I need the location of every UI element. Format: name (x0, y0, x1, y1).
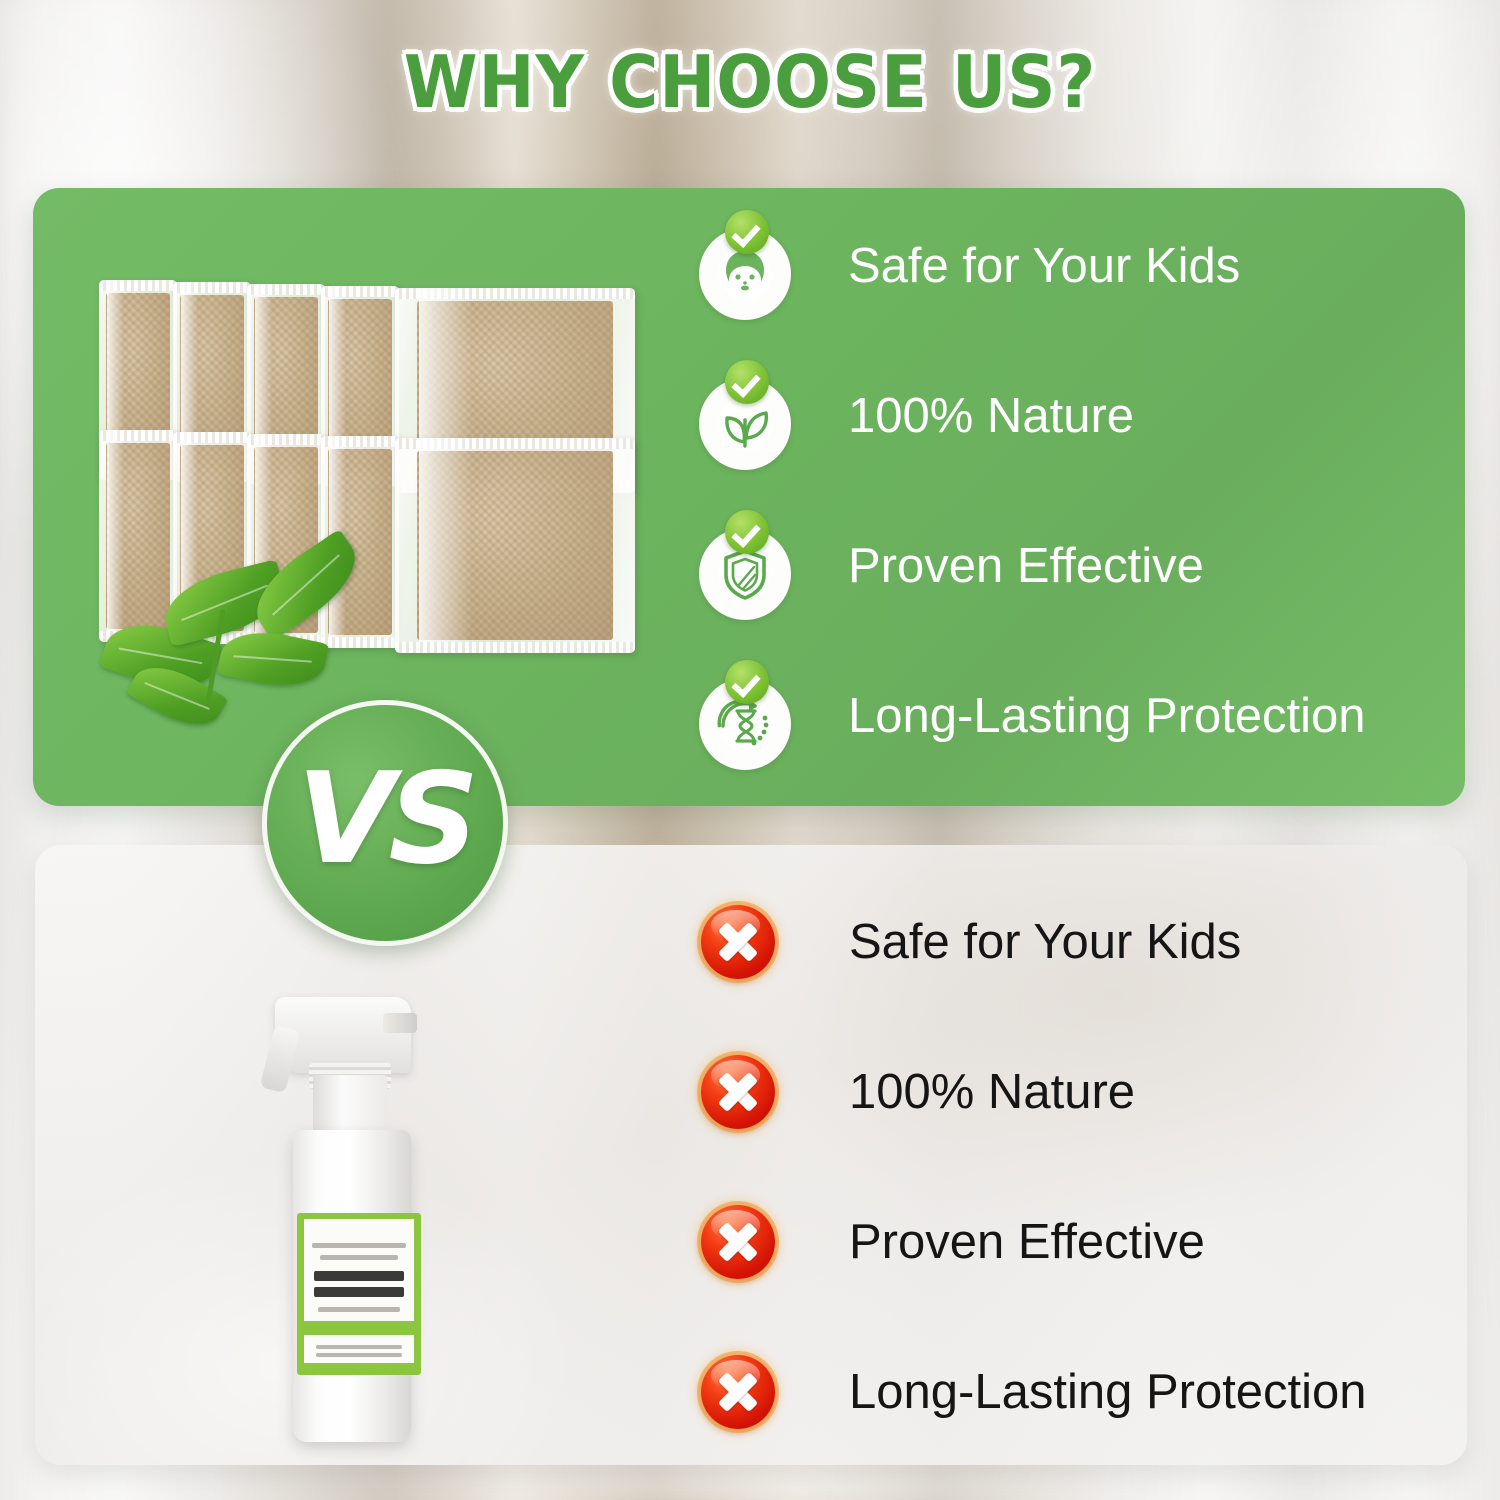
infographic-stage: WHY CHOOSE US? (0, 0, 1500, 1500)
feature-label: 100% Nature (849, 1068, 1135, 1117)
feature-row-safe-for-kids: Safe for Your Kids (699, 220, 1240, 312)
check-badge-icon (725, 360, 769, 404)
mint-leaves-decoration (95, 555, 395, 730)
mint-leaf (217, 623, 330, 695)
cross-icon (701, 1055, 775, 1129)
feature-row-proven-effective-bad: Proven Effective (701, 1205, 1205, 1279)
feature-row-100-nature: 100% Nature (699, 370, 1134, 462)
feature-label: 100% Nature (848, 392, 1134, 441)
bottle-label (297, 1213, 421, 1375)
bad-product-panel: Safe for Your Kids 100% Nature Proven Ef… (35, 845, 1467, 1465)
hourglass-refresh-icon (699, 670, 791, 762)
check-badge-icon (725, 510, 769, 554)
feature-row-long-lasting-bad: Long-Lasting Protection (701, 1355, 1367, 1429)
feature-label: Proven Effective (849, 1218, 1205, 1267)
pouch-gloss (419, 438, 472, 653)
shield-icon (699, 520, 791, 612)
feature-label: Safe for Your Kids (849, 918, 1241, 967)
child-face-icon (699, 220, 791, 312)
cross-icon (701, 1205, 775, 1279)
feature-label: Safe for Your Kids (848, 242, 1240, 291)
feature-label: Proven Effective (848, 542, 1204, 591)
feature-row-100-nature-bad: 100% Nature (701, 1055, 1135, 1129)
sachet-pouch-front (395, 438, 635, 653)
vs-badge: VS (262, 700, 508, 946)
spray-bottle-photo (255, 955, 445, 1445)
bottle-neck (313, 1075, 387, 1137)
cross-icon (701, 905, 775, 979)
vs-label: VS (297, 756, 473, 882)
check-badge-icon (725, 210, 769, 254)
check-badge-icon (725, 660, 769, 704)
leaf-icon (699, 370, 791, 462)
feature-label: Long-Lasting Protection (849, 1368, 1367, 1417)
page-title: WHY CHOOSE US? (53, 40, 1448, 124)
feature-row-safe-for-kids-bad: Safe for Your Kids (701, 905, 1241, 979)
pouch-seal-bottom (395, 642, 635, 653)
feature-row-proven-effective: Proven Effective (699, 520, 1204, 612)
feature-label: Long-Lasting Protection (848, 692, 1366, 741)
feature-row-long-lasting: Long-Lasting Protection (699, 670, 1366, 762)
bottle-nozzle (383, 1013, 417, 1033)
cross-icon (701, 1355, 775, 1429)
